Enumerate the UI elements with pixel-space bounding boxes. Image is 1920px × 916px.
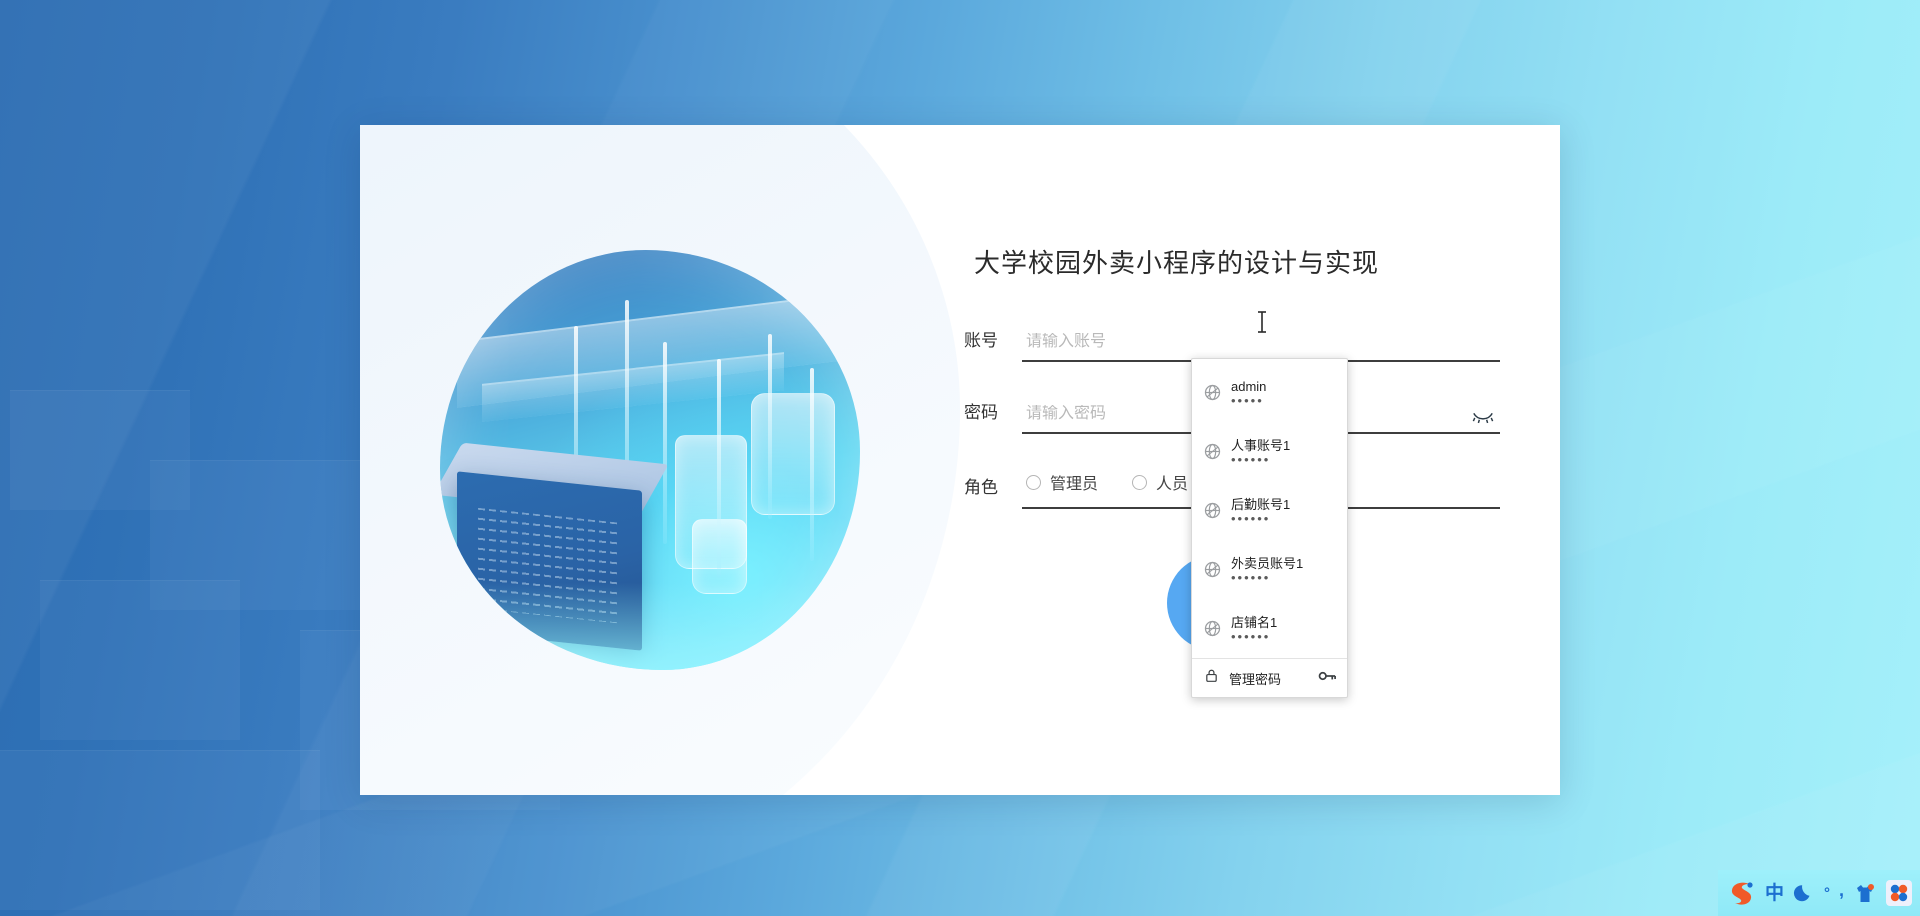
ime-mode-toggle[interactable]: 中: [1765, 884, 1784, 903]
shirt-icon[interactable]: [1853, 881, 1877, 905]
degree-symbol-icon[interactable]: °: [1824, 885, 1830, 902]
autofill-username: 外卖员账号1: [1231, 556, 1303, 571]
autofill-username: admin: [1231, 379, 1266, 394]
password-label: 密码: [964, 398, 1022, 434]
role-option-admin[interactable]: 管理员: [1026, 470, 1098, 494]
autofill-item-text: 人事账号1 ••••••: [1231, 438, 1290, 465]
desktop-background: 大学校园外卖小程序的设计与实现 账号 密码: [0, 0, 1920, 916]
autofill-username: 后勤账号1: [1231, 497, 1290, 512]
key-icon: [1318, 669, 1337, 687]
role-radio-group: 管理员 人员: [1026, 470, 1188, 500]
illustration-console-box: [457, 471, 642, 650]
radio-dot-icon: [1026, 475, 1041, 490]
autofill-item-text: admin •••••: [1231, 379, 1266, 406]
autofill-password-mask: ••••••: [1231, 455, 1290, 465]
globe-icon: [1204, 620, 1221, 637]
autofill-manage-passwords-label: 管理密码: [1229, 669, 1308, 688]
autofill-item[interactable]: 店铺名1 ••••••: [1192, 599, 1347, 658]
role-option-staff-label: 人员: [1156, 470, 1188, 494]
login-card: 大学校园外卖小程序的设计与实现 账号 密码: [360, 125, 1560, 795]
autofill-item[interactable]: 后勤账号1 ••••••: [1192, 481, 1347, 540]
radio-dot-icon: [1132, 475, 1147, 490]
login-illustration-panel: [360, 125, 940, 795]
globe-icon: [1204, 443, 1221, 460]
sogou-logo-icon[interactable]: [1728, 879, 1756, 907]
moon-icon[interactable]: [1793, 882, 1815, 904]
autofill-username: 店铺名1: [1231, 615, 1277, 630]
autofill-item-text: 后勤账号1 ••••••: [1231, 497, 1290, 524]
illustration-pipe-2: [625, 300, 629, 544]
illustration-glass-tank-a: [675, 435, 746, 569]
autofill-password-mask: ••••••: [1231, 573, 1303, 583]
illustration-ceiling-slab-2: [482, 352, 784, 422]
autofill-manage-passwords-row[interactable]: 管理密码: [1192, 658, 1347, 697]
globe-icon: [1204, 561, 1221, 578]
autofill-username: 人事账号1: [1231, 438, 1290, 453]
autofill-item-text: 外卖员账号1 ••••••: [1231, 556, 1303, 583]
illustration-pipe-5: [768, 334, 772, 519]
app-grid-icon[interactable]: [1886, 880, 1912, 906]
autofill-password-mask: ••••••: [1231, 514, 1290, 524]
illustration-pipe-3: [663, 342, 667, 544]
globe-icon: [1204, 502, 1221, 519]
illustration-floor-glow: [440, 561, 860, 670]
autofill-dropdown[interactable]: admin ••••• 人事账号1 ••••••: [1191, 358, 1348, 698]
eye-slash-icon[interactable]: [1472, 409, 1494, 425]
illustration-glass-tank-b: [751, 393, 835, 515]
autofill-item[interactable]: 人事账号1 ••••••: [1192, 422, 1347, 481]
illustration-ceiling-slab: [457, 293, 843, 408]
account-row: 账号: [964, 326, 1500, 362]
autofill-item[interactable]: admin •••••: [1192, 363, 1347, 422]
illustration-pipe-6: [810, 368, 814, 561]
comma-symbol-icon[interactable]: ,: [1839, 886, 1844, 901]
illustration-console-top: [440, 442, 669, 515]
account-label: 账号: [964, 326, 1022, 362]
autofill-item[interactable]: 外卖员账号1 ••••••: [1192, 540, 1347, 599]
illustration-pipe-1: [574, 326, 578, 536]
role-label: 角色: [964, 473, 1022, 509]
role-option-admin-label: 管理员: [1050, 470, 1098, 494]
page-title: 大学校园外卖小程序的设计与实现: [974, 243, 1500, 280]
autofill-password-mask: •••••: [1231, 396, 1266, 406]
ime-toolbar[interactable]: 中 ° ,: [1718, 870, 1920, 916]
lab-illustration-image: [440, 250, 860, 670]
illustration-data-rows: [478, 507, 617, 622]
autofill-password-mask: ••••••: [1231, 632, 1277, 642]
autofill-item-text: 店铺名1 ••••••: [1231, 615, 1277, 642]
lock-icon: [1204, 668, 1219, 688]
illustration-pipe-4: [717, 359, 721, 577]
role-option-staff[interactable]: 人员: [1132, 470, 1188, 494]
account-input[interactable]: [1026, 333, 1500, 351]
illustration-glass-tank-c: [692, 519, 747, 595]
globe-icon: [1204, 384, 1221, 401]
